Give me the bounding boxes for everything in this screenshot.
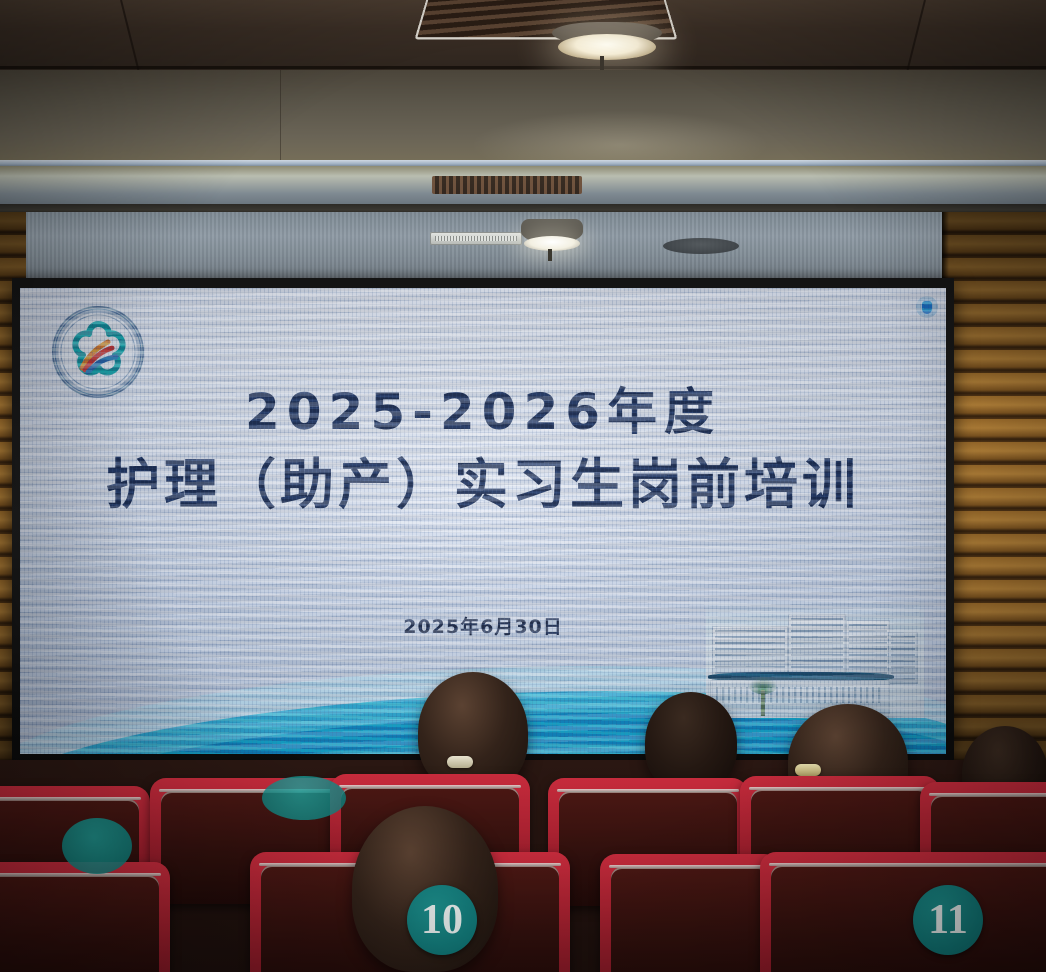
seat-number-badge: 10 — [407, 885, 477, 955]
auditorium-seat[interactable] — [760, 852, 1046, 972]
soffit-vent-icon — [432, 176, 582, 194]
hair-clip-icon — [795, 764, 821, 776]
slide-date: 2025年6月30日 — [20, 612, 946, 639]
slide-title-line1: 2025-2026年度 — [20, 372, 946, 444]
wall-speaker-grille-icon — [430, 232, 522, 245]
seat-number-label: 11 — [928, 896, 968, 944]
hair-clip-icon — [447, 756, 473, 768]
auditorium-seat[interactable] — [0, 862, 170, 972]
attendee-shoulder — [62, 818, 132, 874]
upper-wall — [0, 70, 1046, 166]
auditorium-scene: 2025-2026年度 护理（助产）实习生岗前培训 2025年6月30日 10 … — [0, 0, 1046, 972]
auditorium-seat[interactable] — [600, 854, 780, 972]
ceiling-grid-line — [120, 0, 139, 70]
seat-number-badge: 11 — [913, 885, 983, 955]
seat-number-label: 10 — [421, 896, 463, 944]
slide-corner-badge — [916, 296, 938, 318]
ceiling-grid-line — [907, 0, 926, 70]
wooden-slat-wall-right — [942, 212, 1046, 772]
palm-tree-icon — [746, 674, 780, 716]
ceiling-seam — [0, 66, 1046, 69]
seated-attendee — [645, 692, 737, 792]
ceiling-downlight-icon — [552, 22, 662, 62]
slide-title-line2: 护理（助产）实习生岗前培训 — [20, 440, 946, 519]
wall-round-vent-icon — [663, 238, 739, 254]
wall-downlight-icon — [521, 219, 583, 259]
attendee-shoulder — [262, 776, 346, 820]
